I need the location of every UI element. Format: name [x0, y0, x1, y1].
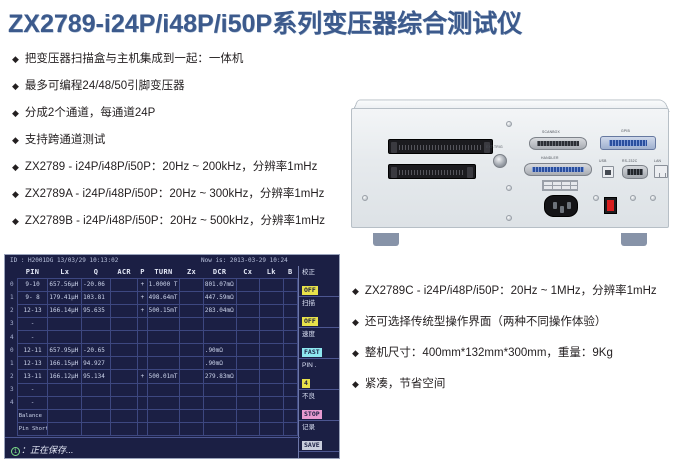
cell-turn: 500.01mT: [147, 370, 180, 383]
cell-p: [138, 396, 147, 409]
right-feature-list: ◆ ZX2789C - i24P/i48P/i50P：20Hz ~ 1MHz，分…: [352, 284, 682, 408]
page-root: ZX2789-i24P/i48P/i50P系列变压器综合测试仪 ◆ 把变压器扫描…: [0, 0, 685, 462]
cell-cx: [236, 317, 260, 330]
gpib-port: [600, 136, 656, 150]
cell-acr: [110, 357, 138, 370]
list-item: ◆ ZX2789B - i24P/i48P/i50P：20Hz ~ 500kHz…: [12, 214, 342, 228]
list-item: ◆ 把变压器扫描盒与主机集成到一起：一体机: [12, 52, 342, 66]
softkey-label: PIN .: [302, 361, 339, 370]
device-foot-right: [621, 233, 647, 246]
table-header-row: PIN Lx Q ACR P TURN Zx DCR Cx Lk B: [7, 266, 298, 278]
cell-lx: 657.56µH: [48, 278, 82, 291]
cell-q: [82, 422, 111, 435]
table-row[interactable]: Pin Short: [7, 422, 298, 435]
measurement-grid: PIN Lx Q ACR P TURN Zx DCR Cx Lk B 09-10…: [7, 266, 298, 436]
feature-text: 紧凑，节省空间: [365, 377, 446, 391]
cell-zx: [180, 291, 204, 304]
cell-lk: [260, 396, 284, 409]
row-index: 1: [7, 291, 17, 304]
cell-b: [283, 422, 297, 435]
softkey-speed[interactable]: 速度 FAST: [299, 328, 339, 359]
screw: [506, 215, 512, 221]
table-row[interactable]: 213-11166.12µH95.134+500.01mT279.83mΩ: [7, 370, 298, 383]
row-index: [7, 422, 17, 435]
screw: [650, 195, 656, 201]
row-index: 1: [7, 357, 17, 370]
softkey-label: 扫描: [302, 299, 339, 308]
diamond-bullet-icon: ◆: [12, 79, 19, 93]
cell-cx: [236, 422, 260, 435]
col-zx: Zx: [180, 266, 204, 278]
table-row[interactable]: 4-: [7, 331, 298, 344]
instrument-lcd-screen: ID : H2001DG 13/03/29 10:13:02 Now is: 2…: [4, 254, 340, 459]
cell-b: [283, 291, 297, 304]
list-item: ◆ ZX2789A - i24P/i48P/i50P：20Hz ~ 300kHz…: [12, 187, 342, 201]
cell-turn: 1.0000 T: [147, 278, 180, 291]
cell-pin: 9- 8: [17, 291, 48, 304]
cell-dcr: [203, 383, 236, 396]
gpib-label: GPIB: [621, 129, 630, 133]
cell-zx: [180, 278, 204, 291]
left-feature-list: ◆ 把变压器扫描盒与主机集成到一起：一体机 ◆ 最多可编程24/48/50引脚变…: [12, 52, 342, 241]
cell-pin: -: [17, 331, 48, 344]
col-p: P: [138, 266, 147, 278]
cell-lk: [260, 383, 284, 396]
softkey-value: OFF: [302, 286, 318, 295]
cell-acr: [110, 409, 138, 422]
cell-cx: [236, 344, 260, 357]
cell-dcr: .90mΩ: [203, 357, 236, 370]
scanbox-label: SCANBOX: [542, 130, 560, 134]
col-b: B: [283, 266, 297, 278]
cell-turn: [147, 357, 180, 370]
cell-lx: [48, 422, 82, 435]
cell-pin: 12-13: [17, 304, 48, 317]
cell-zx: [180, 357, 204, 370]
scanbox-port: [524, 163, 592, 176]
rs232-port: [622, 165, 648, 179]
diamond-bullet-icon: ◆: [12, 106, 19, 120]
scan-connector-b: [388, 164, 476, 179]
softkey-value: OFF: [302, 317, 318, 326]
row-index: 4: [7, 331, 17, 344]
cell-dcr: [203, 396, 236, 409]
cell-cx: [236, 383, 260, 396]
list-item: ◆ ZX2789C - i24P/i48P/i50P：20Hz ~ 1MHz，分…: [352, 284, 682, 298]
diamond-bullet-icon: ◆: [12, 52, 19, 66]
lan-label: LAN: [654, 159, 661, 163]
cell-dcr: 279.83mΩ: [203, 370, 236, 383]
cell-zx: [180, 396, 204, 409]
cell-b: [283, 396, 297, 409]
col-dcr: DCR: [203, 266, 236, 278]
cell-dcr: [203, 317, 236, 330]
cell-q: -20.06: [82, 278, 111, 291]
rs232-label: RS-232C: [622, 159, 637, 163]
cell-acr: [110, 344, 138, 357]
cell-lk: [260, 357, 284, 370]
cell-b: [283, 409, 297, 422]
cell-zx: [180, 317, 204, 330]
softkey-label: 不良: [302, 392, 339, 401]
scan-connector-a: [388, 139, 493, 154]
title-divider: [0, 42, 685, 43]
cell-lk: [260, 291, 284, 304]
device-rear-panel-image: EXT.TRIG SCANBOX HANDLER GPIB USB RS-232…: [345, 92, 675, 252]
cell-lk: [260, 331, 284, 344]
lcd-clock-text: Now is: 2013-03-29 10:24: [201, 255, 288, 266]
softkey-calibration[interactable]: 校正 OFF: [299, 266, 339, 297]
device-chassis: EXT.TRIG SCANBOX HANDLER GPIB USB RS-232…: [351, 108, 669, 228]
cell-p: [138, 383, 147, 396]
cell-q: [82, 317, 111, 330]
softkey-fail[interactable]: 不良 STOP: [299, 390, 339, 421]
cell-lx: [48, 331, 82, 344]
cell-b: [283, 370, 297, 383]
cell-p: [138, 317, 147, 330]
softkey-scan[interactable]: 扫描 OFF: [299, 297, 339, 328]
cell-cx: [236, 357, 260, 370]
list-item: ◆ 紧凑，节省空间: [352, 377, 682, 391]
screw: [362, 195, 368, 201]
cell-dcr: [203, 409, 236, 422]
cell-p: +: [138, 370, 147, 383]
feature-text: ZX2789C - i24P/i48P/i50P：20Hz ~ 1MHz，分辨率…: [365, 284, 657, 298]
lcd-status-bar: ID : H2001DG 13/03/29 10:13:02 Now is: 2…: [5, 255, 339, 266]
cell-cx: [236, 409, 260, 422]
cell-pin: 13-11: [17, 370, 48, 383]
cell-lx: 166.15µH: [48, 357, 82, 370]
cell-b: [283, 304, 297, 317]
feature-text: 分成2个通道，每通道24P: [25, 106, 155, 120]
cell-q: 94.927: [82, 357, 111, 370]
lcd-status-text: ：正在保存...: [21, 445, 74, 455]
cell-lx: [48, 317, 82, 330]
softkey-value: STOP: [302, 410, 322, 419]
cell-cx: [236, 278, 260, 291]
col-index: [7, 266, 17, 278]
cell-q: -20.65: [82, 344, 111, 357]
ac-power-inlet: [544, 195, 578, 217]
table-row[interactable]: 112-13166.15µH94.927.90mΩ: [7, 357, 298, 370]
cell-q: 103.81: [82, 291, 111, 304]
cell-q: [82, 409, 111, 422]
lcd-status-message: 1：正在保存...: [11, 443, 74, 456]
cell-pin: -: [17, 396, 48, 409]
cell-turn: 500.15mT: [147, 304, 180, 317]
cell-q: 95.134: [82, 370, 111, 383]
table-row[interactable]: 212-13166.14µH95.635+500.15mT283.04mΩ: [7, 304, 298, 317]
summary-label: Balance: [17, 409, 48, 422]
cell-q: [82, 383, 111, 396]
cell-p: [138, 409, 147, 422]
device-foot-left: [373, 233, 399, 246]
cell-dcr: 447.59mΩ: [203, 291, 236, 304]
step-number-icon: 1: [11, 447, 20, 456]
handler-port: [529, 137, 587, 150]
row-index: 0: [7, 278, 17, 291]
cell-b: [283, 383, 297, 396]
list-item: ◆ 还可选择传统型操作界面（两种不同操作体验）: [352, 315, 682, 329]
list-item: ◆ 支持跨通道测试: [12, 133, 342, 147]
cell-lk: [260, 278, 284, 291]
table-row[interactable]: 19- 8179.41µH103.81+498.64mT447.59mΩ: [7, 291, 298, 304]
rating-plate: [542, 180, 578, 191]
cell-turn: [147, 344, 180, 357]
softkey-value: FAST: [302, 348, 322, 357]
feature-text: ZX2789A - i24P/i48P/i50P：20Hz ~ 300kHz，分…: [25, 187, 324, 201]
feature-text: 支持跨通道测试: [25, 133, 106, 147]
cell-b: [283, 344, 297, 357]
row-index: 2: [7, 370, 17, 383]
cell-dcr: [203, 331, 236, 344]
softkey-pin[interactable]: PIN . 4: [299, 359, 339, 390]
cell-turn: [147, 317, 180, 330]
cell-lk: [260, 422, 284, 435]
cell-p: [138, 331, 147, 344]
table-row[interactable]: 09-10657.56µH-20.06+1.0000 T801.07mΩ: [7, 278, 298, 291]
softkey-value: SAVE: [302, 441, 322, 450]
cell-dcr: .90mΩ: [203, 344, 236, 357]
cell-acr: [110, 422, 138, 435]
screw: [506, 185, 512, 191]
cell-lk: [260, 317, 284, 330]
cell-turn: [147, 422, 180, 435]
table-row[interactable]: 4-: [7, 396, 298, 409]
cell-cx: [236, 304, 260, 317]
cell-dcr: [203, 422, 236, 435]
cell-cx: [236, 370, 260, 383]
diamond-bullet-icon: ◆: [352, 346, 359, 360]
summary-label: Pin Short: [17, 422, 48, 435]
row-index: 3: [7, 317, 17, 330]
diamond-bullet-icon: ◆: [352, 315, 359, 329]
handler-label: HANDLER: [541, 156, 559, 160]
col-acr: ACR: [110, 266, 138, 278]
cell-acr: [110, 331, 138, 344]
diamond-bullet-icon: ◆: [12, 160, 19, 174]
row-index: 2: [7, 304, 17, 317]
feature-text: 把变压器扫描盒与主机集成到一起：一体机: [25, 52, 244, 66]
cell-acr: [110, 370, 138, 383]
screw: [506, 121, 512, 127]
cell-q: 95.635: [82, 304, 111, 317]
cell-cx: [236, 396, 260, 409]
cell-b: [283, 278, 297, 291]
cell-lk: [260, 344, 284, 357]
lan-port: [654, 165, 668, 178]
cell-pin: -: [17, 317, 48, 330]
usb-label: USB: [599, 159, 607, 163]
feature-text: ZX2789 - i24P/i48P/i50P：20Hz ~ 200kHz，分辨…: [25, 160, 317, 174]
col-q: Q: [82, 266, 111, 278]
cell-lx: 179.41µH: [48, 291, 82, 304]
cell-zx: [180, 383, 204, 396]
cell-acr: [110, 278, 138, 291]
cell-dcr: 283.04mΩ: [203, 304, 236, 317]
col-pin: PIN: [17, 266, 48, 278]
col-lk: Lk: [260, 266, 284, 278]
row-index: 0: [7, 344, 17, 357]
cell-b: [283, 357, 297, 370]
measurement-table: PIN Lx Q ACR P TURN Zx DCR Cx Lk B 09-10…: [7, 266, 298, 436]
list-item: ◆ 整机尺寸：400mm*132mm*300mm，重量：9Kg: [352, 346, 682, 360]
cell-pin: 12-13: [17, 357, 48, 370]
diamond-bullet-icon: ◆: [352, 377, 359, 391]
table-row[interactable]: Balance: [7, 409, 298, 422]
cell-turn: [147, 409, 180, 422]
lcd-softkey-panel: 校正 OFF 扫描 OFF 速度 FAST PIN . 4 不良 STOP 记录…: [298, 266, 339, 458]
feature-text: 整机尺寸：400mm*132mm*300mm，重量：9Kg: [365, 346, 613, 360]
diamond-bullet-icon: ◆: [12, 214, 19, 228]
cell-zx: [180, 370, 204, 383]
cell-p: +: [138, 278, 147, 291]
table-row[interactable]: 012-11657.95µH-20.65.90mΩ: [7, 344, 298, 357]
feature-text: ZX2789B - i24P/i48P/i50P：20Hz ~ 500kHz，分…: [25, 214, 325, 228]
power-switch[interactable]: [604, 197, 617, 214]
softkey-label: 记录: [302, 423, 339, 432]
screw: [593, 195, 599, 201]
cell-q: [82, 396, 111, 409]
cell-dcr: 801.07mΩ: [203, 278, 236, 291]
cell-lk: [260, 370, 284, 383]
diamond-bullet-icon: ◆: [352, 284, 359, 298]
row-index: 4: [7, 396, 17, 409]
cell-acr: [110, 304, 138, 317]
row-index: [7, 409, 17, 422]
cell-lx: [48, 409, 82, 422]
cell-zx: [180, 409, 204, 422]
cell-p: [138, 422, 147, 435]
cell-zx: [180, 422, 204, 435]
cell-cx: [236, 331, 260, 344]
diamond-bullet-icon: ◆: [12, 133, 19, 147]
cell-lk: [260, 304, 284, 317]
cell-acr: [110, 291, 138, 304]
lcd-id-text: ID : H2001DG 13/03/29 10:13:02: [10, 255, 118, 266]
list-item: ◆ 最多可编程24/48/50引脚变压器: [12, 79, 342, 93]
softkey-label: 速度: [302, 330, 339, 339]
lcd-message-bar: 1：正在保存...: [5, 437, 300, 458]
cell-zx: [180, 331, 204, 344]
cell-turn: [147, 396, 180, 409]
table-row[interactable]: 3-: [7, 317, 298, 330]
cell-zx: [180, 304, 204, 317]
cell-acr: [110, 317, 138, 330]
cell-turn: [147, 331, 180, 344]
diamond-bullet-icon: ◆: [12, 187, 19, 201]
cell-q: [82, 331, 111, 344]
screw: [630, 195, 636, 201]
cell-b: [283, 331, 297, 344]
cell-cx: [236, 291, 260, 304]
softkey-value: 4: [302, 379, 310, 388]
ext-trig-label: EXT.TRIG: [486, 145, 503, 149]
cell-turn: 498.64mT: [147, 291, 180, 304]
col-turn: TURN: [147, 266, 180, 278]
feature-text: 最多可编程24/48/50引脚变压器: [25, 79, 185, 93]
cell-p: [138, 344, 147, 357]
measurement-rows: 09-10657.56µH-20.06+1.0000 T801.07mΩ19- …: [7, 278, 298, 436]
cell-lx: [48, 396, 82, 409]
ext-trigger-bnc-icon: [493, 154, 507, 168]
row-index: 3: [7, 383, 17, 396]
cell-pin: 9-10: [17, 278, 48, 291]
list-item: ◆ 分成2个通道，每通道24P: [12, 106, 342, 120]
col-lx: Lx: [48, 266, 82, 278]
cell-lk: [260, 409, 284, 422]
cell-zx: [180, 344, 204, 357]
cell-lx: 166.14µH: [48, 304, 82, 317]
cell-pin: 12-11: [17, 344, 48, 357]
table-row[interactable]: 3-: [7, 383, 298, 396]
cell-lx: [48, 383, 82, 396]
cell-p: [138, 357, 147, 370]
cell-lx: 166.12µH: [48, 370, 82, 383]
cell-p: +: [138, 291, 147, 304]
feature-text: 还可选择传统型操作界面（两种不同操作体验）: [365, 315, 607, 329]
cell-b: [283, 317, 297, 330]
cell-turn: [147, 383, 180, 396]
cell-p: +: [138, 304, 147, 317]
cell-pin: -: [17, 383, 48, 396]
col-cx: Cx: [236, 266, 260, 278]
cell-acr: [110, 383, 138, 396]
softkey-record[interactable]: 记录 SAVE: [299, 421, 339, 452]
cell-acr: [110, 396, 138, 409]
page-title: ZX2789-i24P/i48P/i50P系列变压器综合测试仪: [8, 4, 680, 40]
usb-port: [602, 166, 614, 178]
list-item: ◆ ZX2789 - i24P/i48P/i50P：20Hz ~ 200kHz，…: [12, 160, 342, 174]
softkey-label: 校正: [302, 268, 339, 277]
cell-lx: 657.95µH: [48, 344, 82, 357]
